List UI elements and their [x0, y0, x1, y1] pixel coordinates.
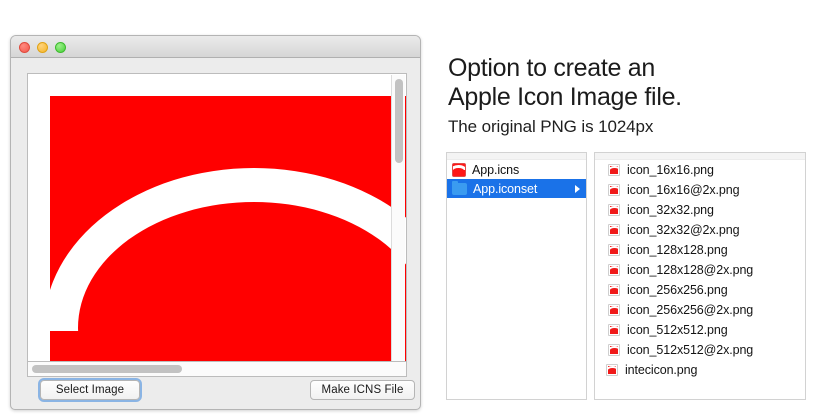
list-item[interactable]: icon_512x512.png	[595, 320, 805, 340]
finder-row-app-icns[interactable]: App.icns	[447, 160, 586, 179]
png-file-icon	[608, 224, 620, 236]
png-file-icon	[608, 344, 620, 356]
png-file-icon	[608, 204, 620, 216]
traffic-light-group	[19, 42, 66, 53]
file-name-label: icon_256x256@2x.png	[627, 303, 753, 317]
png-file-icon	[608, 164, 620, 176]
png-file-icon	[608, 284, 620, 296]
file-name-label: icon_16x16@2x.png	[627, 183, 739, 197]
list-item[interactable]: icon_256x256@2x.png	[595, 300, 805, 320]
panel-top-strip	[595, 153, 805, 160]
image-preview-canvas	[50, 96, 407, 362]
list-item[interactable]: icon_512x512@2x.png	[595, 340, 805, 360]
png-file-icon	[608, 304, 620, 316]
png-file-icon	[606, 364, 618, 376]
file-name-label: icon_16x16.png	[627, 163, 714, 177]
file-name-label: icon_256x256.png	[627, 283, 728, 297]
file-name-label: icon_512x512.png	[627, 323, 728, 337]
annotation-headline: Option to create an Apple Icon Image fil…	[448, 54, 818, 112]
finder-row-app-iconset[interactable]: App.iconset	[447, 179, 586, 198]
png-file-icon	[608, 324, 620, 336]
minimize-window-icon[interactable]	[37, 42, 48, 53]
annotation-subline: The original PNG is 1024px	[448, 117, 818, 137]
file-name-label: icon_32x32.png	[627, 203, 714, 217]
logo-swoosh-mask	[50, 331, 407, 362]
panel-top-strip	[447, 153, 586, 160]
vertical-scrollbar-thumb[interactable]	[395, 79, 403, 163]
make-icns-file-button[interactable]: Make ICNS File	[310, 380, 415, 400]
file-name-label: icon_512x512@2x.png	[627, 343, 753, 357]
finder-row-label: App.iconset	[473, 182, 537, 196]
finder-panel-iconset: App.icns App.iconset	[446, 152, 587, 400]
file-name-label: icon_128x128.png	[627, 243, 728, 257]
list-item[interactable]: icon_256x256.png	[595, 280, 805, 300]
window-titlebar[interactable]	[11, 36, 420, 58]
png-file-icon	[608, 264, 620, 276]
list-item[interactable]: icon_128x128@2x.png	[595, 260, 805, 280]
close-window-icon[interactable]	[19, 42, 30, 53]
vertical-scrollbar[interactable]	[391, 75, 405, 361]
finder-row-label: App.icns	[472, 163, 519, 177]
chevron-right-icon	[575, 185, 580, 193]
list-item[interactable]: icon_16x16.png	[595, 160, 805, 180]
png-file-icon	[608, 184, 620, 196]
file-name-label: icon_32x32@2x.png	[627, 223, 739, 237]
list-item[interactable]: icon_32x32@2x.png	[595, 220, 805, 240]
png-file-icon	[608, 244, 620, 256]
app-window: Select Image Make ICNS File	[10, 35, 421, 410]
select-image-button[interactable]: Select Image	[40, 380, 140, 400]
icns-file-icon	[452, 163, 466, 177]
list-item[interactable]: icon_128x128.png	[595, 240, 805, 260]
horizontal-scrollbar[interactable]	[27, 362, 407, 377]
file-name-label: icon_128x128@2x.png	[627, 263, 753, 277]
blue-folder-icon	[452, 183, 467, 195]
maximize-window-icon[interactable]	[55, 42, 66, 53]
image-preview-scroll-area[interactable]	[27, 73, 407, 362]
list-item[interactable]: intecicon.png	[595, 360, 805, 380]
list-item[interactable]: icon_16x16@2x.png	[595, 180, 805, 200]
horizontal-scrollbar-thumb[interactable]	[32, 365, 182, 373]
file-name-label: intecicon.png	[625, 363, 697, 377]
annotation-block: Option to create an Apple Icon Image fil…	[448, 54, 818, 137]
finder-panel-files: icon_16x16.png icon_16x16@2x.png icon_32…	[594, 152, 806, 400]
list-item[interactable]: icon_32x32.png	[595, 200, 805, 220]
